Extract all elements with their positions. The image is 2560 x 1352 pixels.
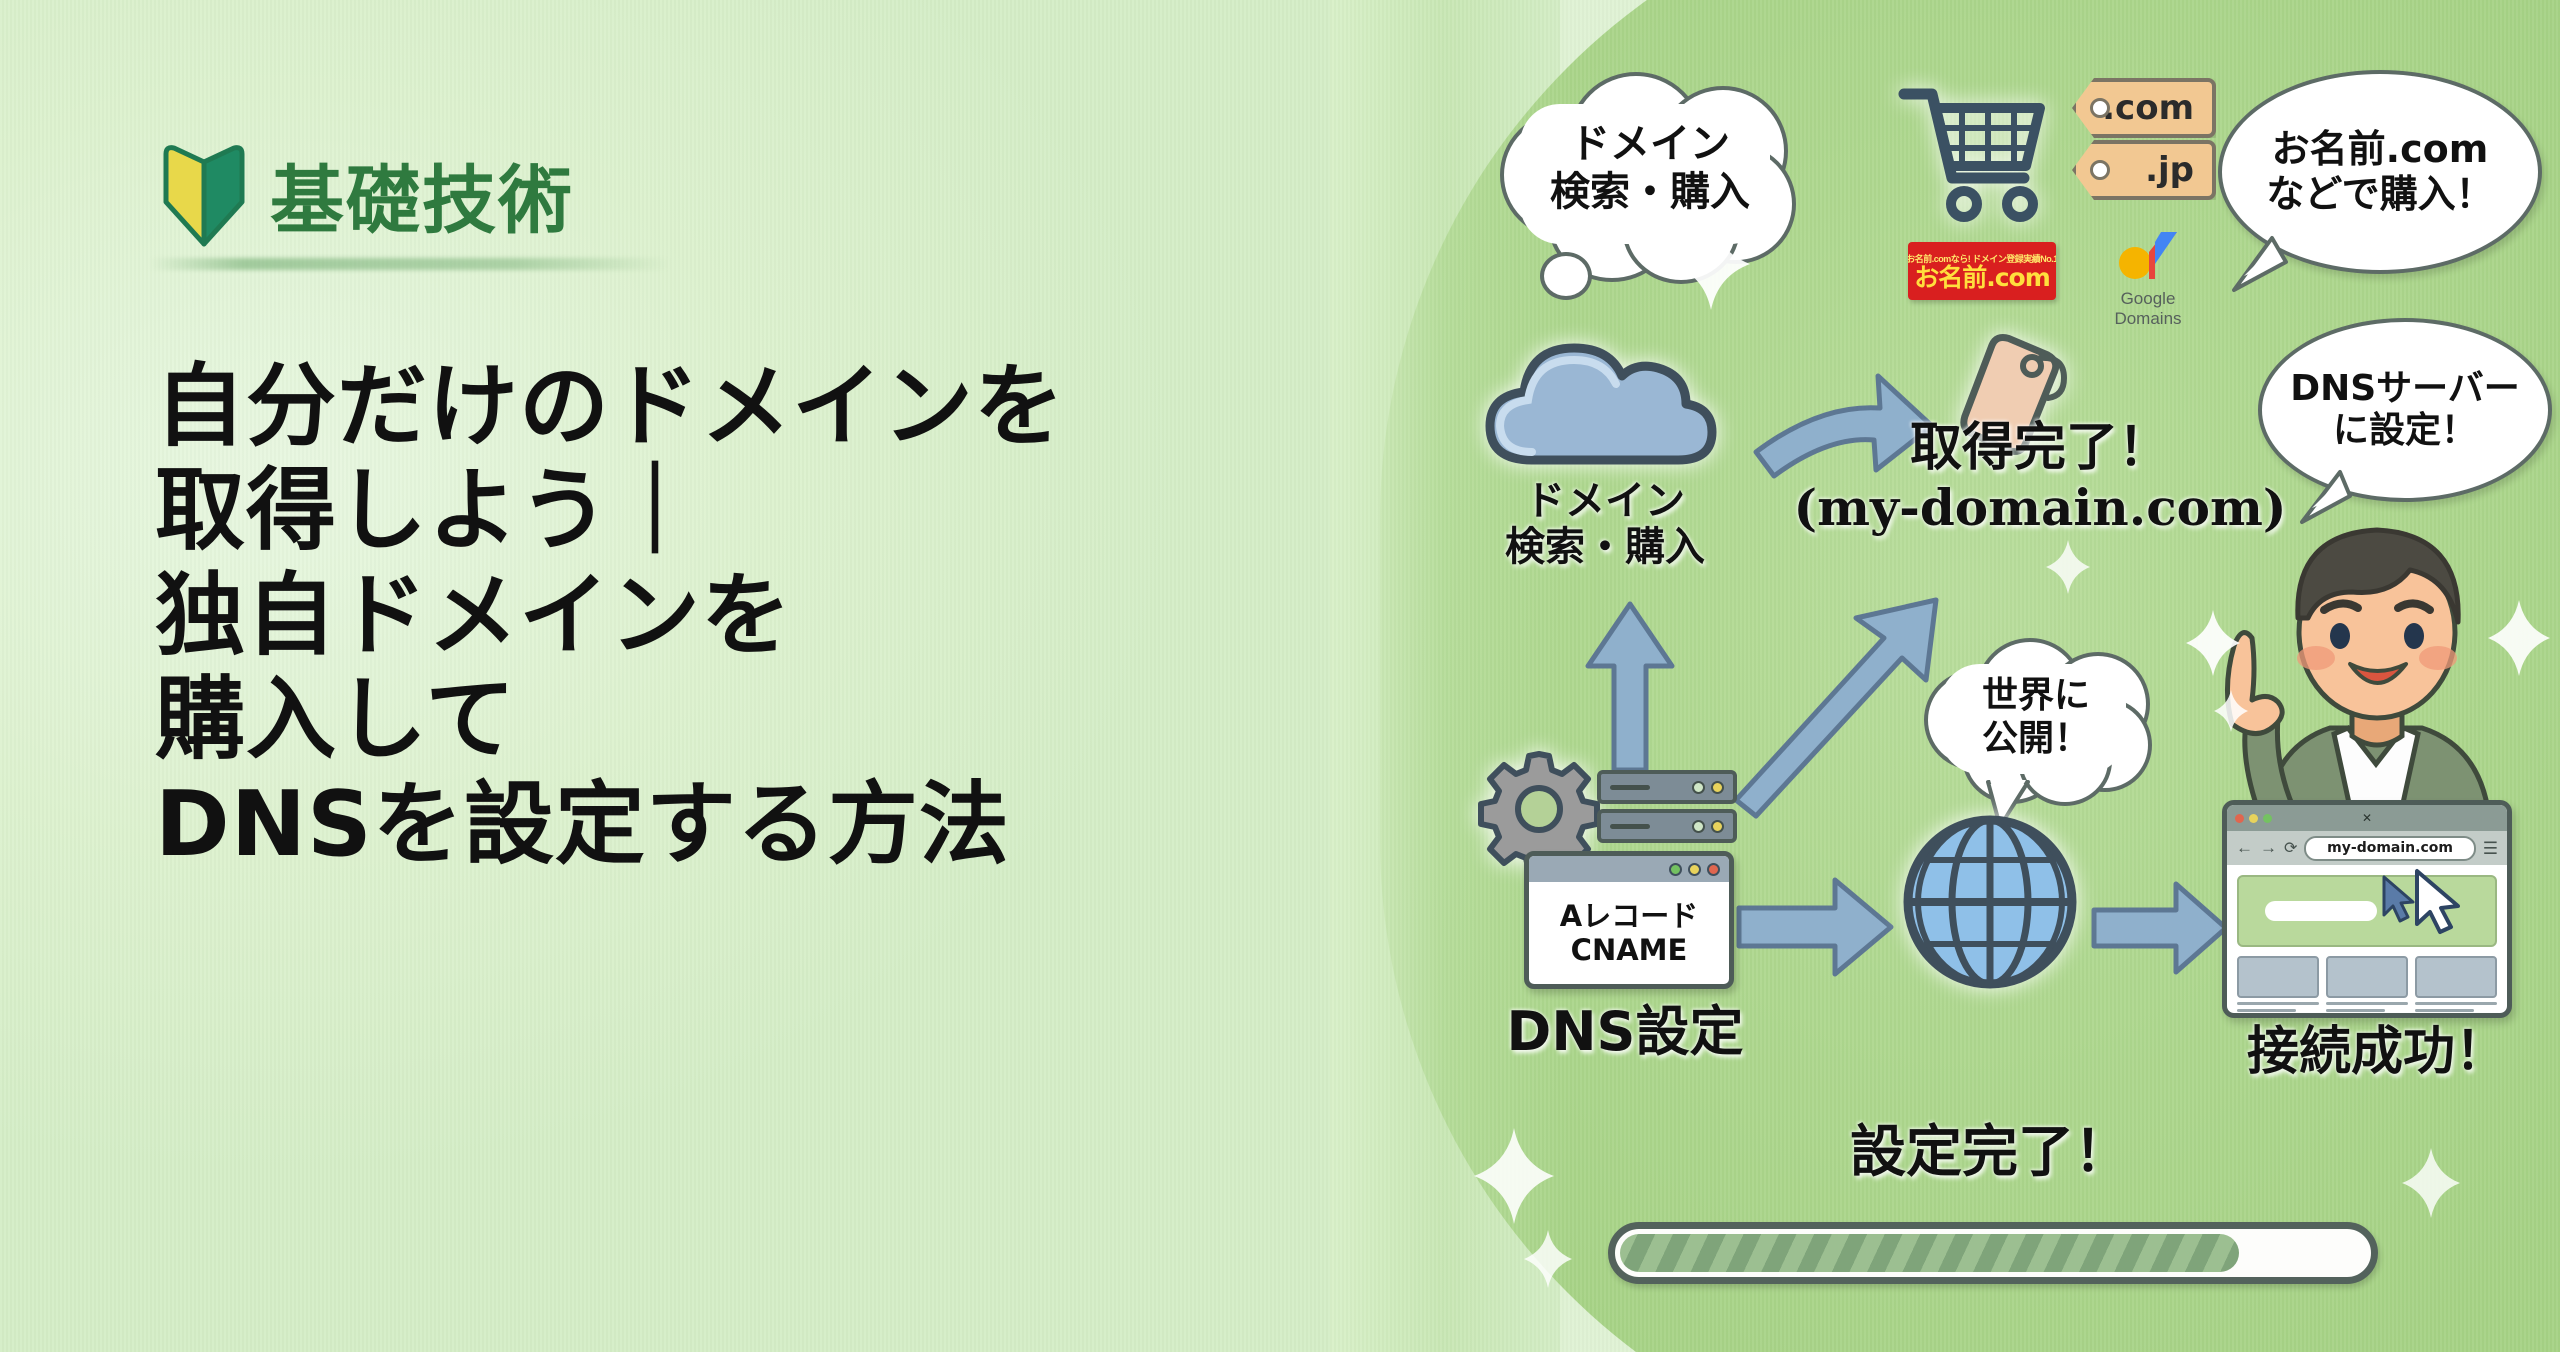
- window-dot-red[interactable]: [1707, 863, 1720, 876]
- content-card: [2415, 956, 2497, 1012]
- onamae-wordmark: お名前.com: [1914, 265, 2050, 290]
- window-dot-yellow[interactable]: [1688, 863, 1701, 876]
- url-bar[interactable]: my-domain.com: [2304, 836, 2475, 861]
- window-dot-green[interactable]: [1669, 863, 1682, 876]
- content-card: [2326, 956, 2408, 1012]
- server-leds: [1692, 820, 1724, 833]
- card-line: [2415, 1009, 2474, 1012]
- arrow-dns-to-globe: [1735, 872, 1895, 982]
- mouse-cursor-icon: [2412, 868, 2466, 938]
- google-domains-label: Google Domains: [2088, 289, 2208, 329]
- led-yellow: [1711, 781, 1724, 794]
- tag-label: .jp: [2145, 150, 2212, 190]
- google-domains-icon: [2115, 230, 2181, 282]
- tag-hole: [2090, 160, 2110, 180]
- arrow-dns-to-cloud: [1588, 604, 1672, 770]
- led-yellow: [1711, 820, 1724, 833]
- label-connection-success: 接続成功！: [2212, 1022, 2542, 1083]
- arrow-globe-to-browser: [2090, 878, 2230, 978]
- window-body: Aレコード CNAME: [1529, 882, 1729, 984]
- card-thumbnail: [2237, 956, 2319, 998]
- browser-titlebar: ✕: [2227, 805, 2507, 831]
- shopping-cart-icon: [1898, 82, 2048, 222]
- led-green: [1692, 820, 1705, 833]
- bubble-domain-search-buy: ドメイン 検索・購入: [1490, 60, 1810, 285]
- bubble-text: DNSサーバー に設定！: [2290, 368, 2520, 453]
- window-dot-green[interactable]: [2263, 814, 2272, 823]
- hero-search-pill[interactable]: [2265, 901, 2377, 921]
- server-unit: [1597, 770, 1737, 804]
- tld-tag-com: .com: [2072, 78, 2216, 138]
- card-line: [2326, 1009, 2385, 1012]
- dns-record-window: Aレコード CNAME: [1524, 851, 1734, 989]
- thumbnail-canvas: 基礎技術 自分だけのドメインを 取得しよう｜ 独自ドメインを 購入して DNSを…: [0, 0, 2560, 1352]
- led-green: [1692, 781, 1705, 794]
- logo-underline-stroke: [150, 258, 670, 270]
- cloud-icon: [1480, 322, 1720, 472]
- hamburger-menu-icon[interactable]: ☰: [2483, 840, 2498, 857]
- reload-icon[interactable]: ⟳: [2284, 838, 2297, 858]
- browser-window[interactable]: ✕ ← → ⟳ my-domain.com ☰: [2222, 800, 2512, 1018]
- dns-record-a: Aレコード: [1560, 900, 1698, 932]
- bubble-text: ドメイン 検索・購入: [1490, 120, 1810, 216]
- title-line-1: 自分だけのドメインを: [155, 355, 1335, 459]
- pointing-person-avatar: [2212, 496, 2542, 826]
- title-line-4: 購入して: [155, 668, 1335, 772]
- title-line-5: DNSを設定する方法: [155, 773, 1335, 877]
- card-thumbnail: [2415, 956, 2497, 998]
- globe-icon: [1900, 812, 2080, 992]
- window-dot-red[interactable]: [2235, 814, 2244, 823]
- server-unit: [1597, 809, 1737, 843]
- label-setup-complete: 設定完了！: [1760, 1120, 2220, 1186]
- arrow-dns-to-acquired: [1736, 600, 1936, 816]
- progress-bar-fill: [1620, 1234, 2239, 1272]
- title-line-2: 取得しよう｜: [155, 459, 1335, 563]
- onamae-com-logo: お名前.comなら! ドメイン登録実績No.1 お名前.com: [1908, 242, 2056, 300]
- server-leds: [1692, 781, 1724, 794]
- card-line: [2326, 1002, 2408, 1005]
- bubble-text: お名前.com などで購入！: [2266, 127, 2493, 217]
- arrow-right-icon[interactable]: →: [2260, 838, 2277, 858]
- browser-toolbar: ← → ⟳ my-domain.com ☰: [2227, 831, 2507, 865]
- content-card: [2237, 956, 2319, 1012]
- page-title: 自分だけのドメインを 取得しよう｜ 独自ドメインを 購入して DNSを設定する方…: [155, 355, 1335, 877]
- card-line: [2415, 1002, 2497, 1005]
- server-rack-icon: [1597, 770, 1737, 848]
- window-dot-yellow[interactable]: [2249, 814, 2258, 823]
- tld-tag-jp: .jp: [2072, 140, 2216, 200]
- close-icon[interactable]: ✕: [2362, 811, 2372, 825]
- beginner-leaf-icon: [160, 140, 248, 248]
- card-line: [2237, 1002, 2319, 1005]
- arrow-left-icon[interactable]: ←: [2236, 838, 2253, 858]
- bubble-tail-purchase: [2228, 232, 2298, 296]
- tag-hole: [2090, 98, 2110, 118]
- label-acquired: 取得完了！: [1830, 418, 2250, 479]
- brand-logo: 基礎技術: [160, 140, 574, 248]
- card-thumbnail: [2326, 956, 2408, 998]
- tag-label: .com: [2102, 88, 2212, 128]
- window-titlebar: [1529, 856, 1729, 882]
- card-line: [2237, 1009, 2296, 1012]
- title-line-3: 独自ドメインを: [155, 564, 1335, 668]
- server-slot-line: [1610, 785, 1650, 790]
- progress-bar: [1608, 1222, 2378, 1284]
- server-slot-line: [1610, 824, 1650, 829]
- label-cloud-caption: ドメイン 検索・購入: [1460, 478, 1750, 571]
- brand-name: 基礎技術: [270, 141, 574, 248]
- bubble-text: 世界に 公開！: [1918, 674, 2154, 760]
- label-dns-settings: DNS設定: [1500, 1000, 1750, 1064]
- dns-record-cname: CNAME: [1571, 934, 1688, 966]
- bubble-tail-dot: [1540, 252, 1592, 300]
- google-domains-logo: Google Domains: [2088, 230, 2208, 329]
- content-card-row: [2237, 956, 2497, 1012]
